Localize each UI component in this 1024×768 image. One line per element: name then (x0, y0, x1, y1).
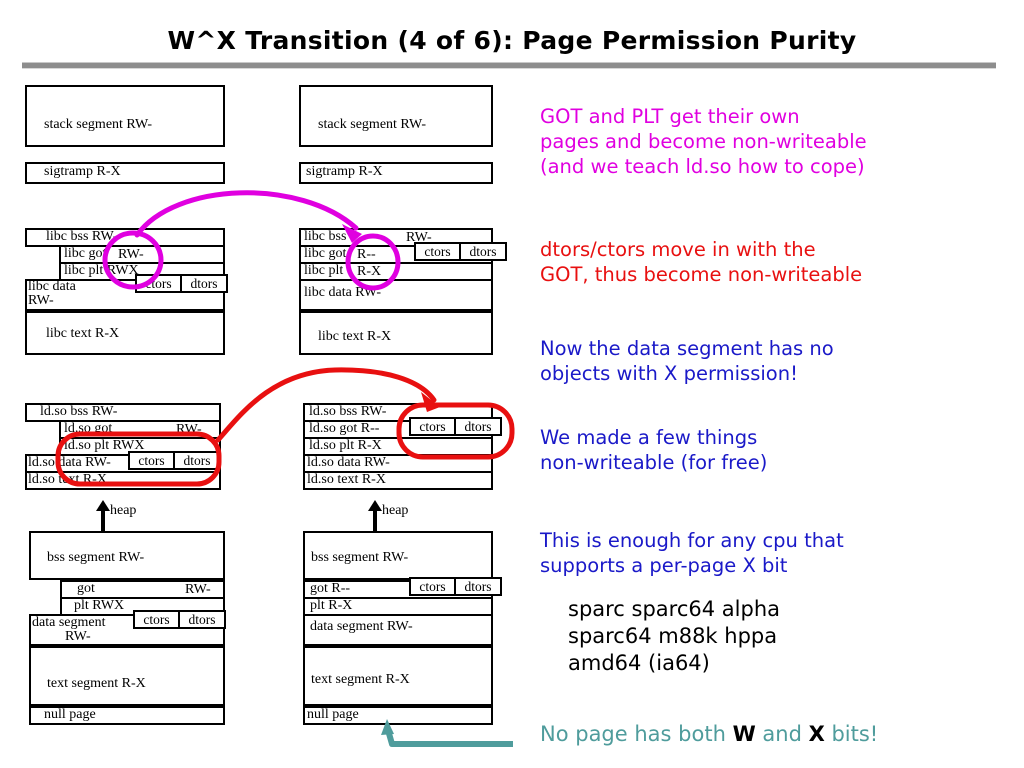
note-few-things: We made a few things non-writeable (for … (540, 425, 1010, 475)
perm-libc-got-after: R-- (357, 247, 376, 263)
ctors-libc-before: ctors (135, 274, 182, 293)
label-bss-segment-after: bss segment RW- (311, 551, 408, 566)
note-got-plt: GOT and PLT get their own pages and beco… (540, 104, 1010, 179)
dtors-ldso-before: dtors (174, 451, 221, 470)
label-ldso-plt-after: ld.so plt R-X (309, 439, 382, 454)
label-libc-bss-before: libc bss RW- (46, 230, 118, 245)
ctors-ldso-before: ctors (128, 451, 175, 470)
label-heap-after: heap (382, 503, 408, 519)
note-arch-list: sparc sparc64 alpha sparc64 m88k hppa am… (568, 596, 1018, 677)
note-data-segment: Now the data segment has no objects with… (540, 336, 1010, 386)
conclusion-x: X (809, 722, 825, 746)
note-enough-cpu: This is enough for any cpu that supports… (540, 528, 1010, 578)
label-libc-got-after: libc got (304, 247, 346, 262)
perm-ldso-got-before: RW- (176, 422, 202, 438)
label-got-after: got R-- (310, 582, 350, 597)
label-ldso-bss-after: ld.so bss RW- (309, 405, 386, 420)
label-null-page-after: null page (307, 708, 359, 723)
ctors-libc-after: ctors (414, 242, 461, 261)
conclusion-text-post: bits! (825, 722, 878, 746)
label-ldso-bss-before: ld.so bss RW- (40, 405, 117, 420)
label-plt-before: plt RWX (74, 599, 124, 614)
label-text-segment-after: text segment R-X (311, 673, 410, 688)
dtors-libc-after: dtors (460, 242, 507, 261)
heap-arrow-head-after (368, 500, 382, 511)
label-libc-data-after: libc data RW- (304, 286, 381, 301)
label-null-page-before: null page (44, 708, 96, 723)
note-conclusion: No page has both W and X bits! (540, 722, 878, 746)
box-stack-after (299, 85, 493, 147)
label-libc-bss-after: libc bss (304, 230, 346, 245)
ctors-prog-before: ctors (133, 610, 180, 629)
label-text-segment-before: text segment R-X (47, 677, 146, 692)
label-ldso-text-before: ld.so text R-X (28, 473, 107, 488)
perm-libc-plt-after: R-X (357, 264, 381, 280)
conclusion-text-pre: No page has both (540, 722, 733, 746)
page-title: W^X Transition (4 of 6): Page Permission… (0, 26, 1024, 55)
label-plt-after: plt R-X (310, 599, 352, 614)
dtors-prog-before: dtors (179, 610, 226, 629)
dtors-prog-after: dtors (455, 577, 502, 596)
title-divider (22, 62, 996, 69)
label-libc-got-before: libc got (64, 247, 106, 262)
label-bss-segment-before: bss segment RW- (47, 551, 144, 566)
perm-libc-got-before: RW- (118, 247, 144, 263)
teal-arrow (388, 730, 513, 744)
label-sigtramp-after: sigtramp R-X (306, 165, 383, 180)
perm-libc-data-before: RW- (28, 293, 54, 309)
perm-data-segment-before: RW- (65, 629, 91, 645)
label-ldso-data-after: ld.so data RW- (307, 456, 390, 471)
label-heap-before: heap (110, 503, 136, 519)
conclusion-w: W (733, 722, 756, 746)
label-libc-text-after: libc text R-X (318, 330, 391, 345)
heap-arrow-head-before (96, 500, 110, 511)
label-libc-text-before: libc text R-X (46, 327, 119, 342)
label-libc-plt-after: libc plt (304, 264, 343, 279)
note-dtors-ctors: dtors/ctors move in with the GOT, thus b… (540, 237, 1010, 287)
label-ldso-got-after: ld.so got R-- (309, 422, 379, 437)
dtors-ldso-after: dtors (455, 417, 502, 436)
perm-got-before: RW- (185, 582, 211, 598)
label-libc-plt-before: libc plt RWX (64, 264, 139, 279)
box-stack-before (25, 85, 225, 147)
label-ldso-text-after: ld.so text R-X (307, 473, 386, 488)
label-stack-before: stack segment RW- (44, 118, 152, 133)
label-sigtramp-before: sigtramp R-X (44, 165, 121, 180)
label-stack-after: stack segment RW- (318, 118, 426, 133)
conclusion-text-mid: and (756, 722, 809, 746)
ctors-ldso-after: ctors (409, 417, 456, 436)
label-got-before: got (77, 582, 95, 597)
label-ldso-data-before: ld.so data RW- (28, 456, 111, 471)
label-data-segment-after: data segment RW- (310, 620, 413, 635)
dtors-libc-before: dtors (181, 274, 228, 293)
label-ldso-got-before: ld.so got (64, 422, 112, 437)
ctors-prog-after: ctors (409, 577, 456, 596)
